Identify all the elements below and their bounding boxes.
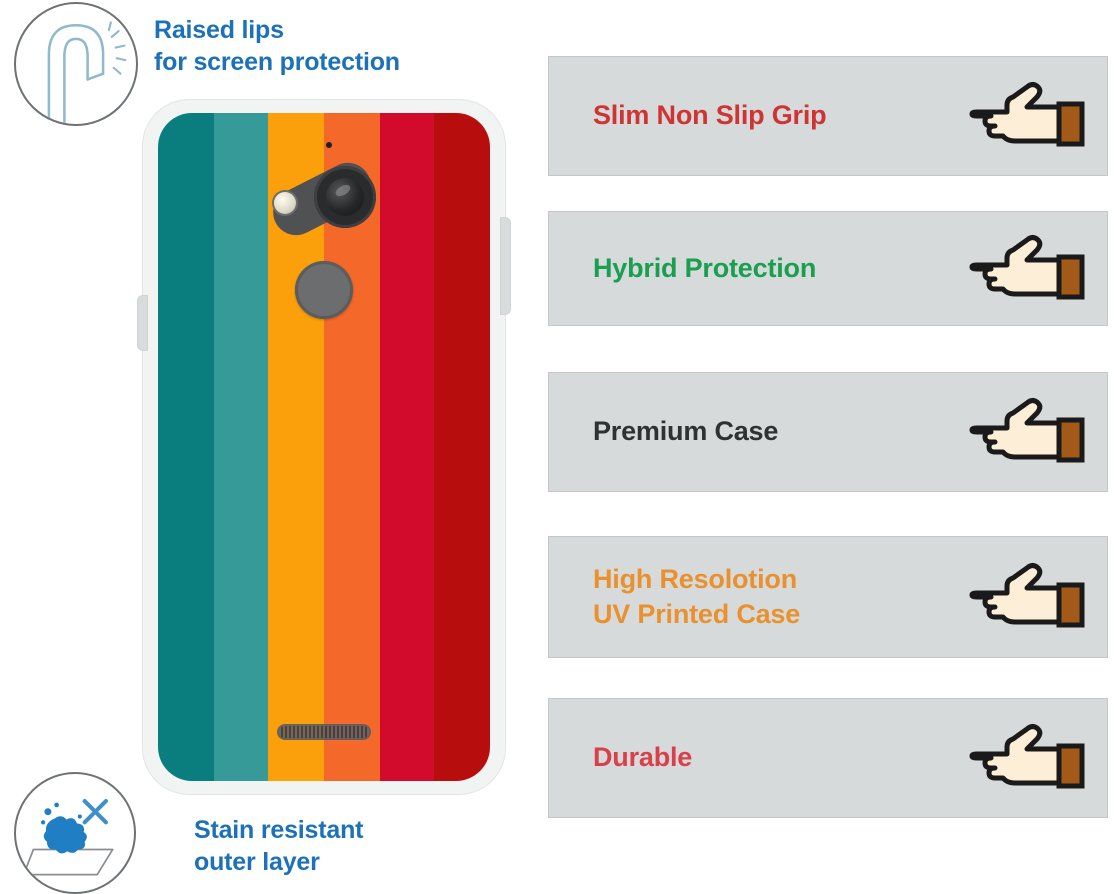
pointing-hand-icon bbox=[969, 232, 1089, 306]
pointing-hand-icon bbox=[969, 560, 1089, 634]
stain-splash-crossed-out-icon bbox=[16, 774, 134, 892]
camera-lens-glass bbox=[326, 178, 364, 216]
pointing-hand-icon bbox=[969, 79, 1089, 153]
stain-resistant-feature: Stain resistant outer layer bbox=[8, 772, 528, 887]
volume-button bbox=[138, 296, 147, 350]
stripe-dark-teal bbox=[158, 113, 214, 781]
cross-mark bbox=[85, 801, 106, 822]
rainbow-striped-phone-case bbox=[143, 100, 505, 794]
raised-lips-line-1: Raised lips bbox=[154, 14, 524, 46]
stain-resistant-line-1: Stain resistant bbox=[194, 814, 524, 846]
feature-label: Durable bbox=[593, 740, 692, 775]
feature-label: Hybrid Protection bbox=[593, 251, 816, 286]
stripe-light-teal bbox=[214, 113, 267, 781]
lens-glint bbox=[334, 183, 352, 199]
camera-lens bbox=[314, 166, 376, 228]
microphone-hole bbox=[326, 142, 332, 148]
power-button bbox=[501, 218, 510, 314]
pointing-hand-icon bbox=[969, 395, 1089, 469]
stain-resistant-caption: Stain resistant outer layer bbox=[194, 814, 524, 878]
feature-bar-slim-non-slip-grip[interactable]: Slim Non Slip Grip bbox=[548, 56, 1108, 176]
case-back-panel bbox=[158, 113, 490, 781]
feature-list: Slim Non Slip Grip Hybrid Protection Pre… bbox=[548, 56, 1114, 856]
feature-bar-hybrid-protection[interactable]: Hybrid Protection bbox=[548, 211, 1108, 326]
feature-bar-premium-case[interactable]: Premium Case bbox=[548, 372, 1108, 492]
pointing-hand-icon bbox=[969, 721, 1089, 795]
feature-label: High Resolotion UV Printed Case bbox=[593, 562, 800, 632]
speaker-grille bbox=[277, 724, 371, 740]
stain-resistant-badge-circle bbox=[14, 772, 136, 894]
stripe-crimson bbox=[380, 113, 433, 781]
raised-lips-badge-circle bbox=[14, 2, 138, 126]
feature-bar-durable[interactable]: Durable bbox=[548, 698, 1108, 818]
raised-lip-profile-icon bbox=[16, 4, 136, 124]
feature-label: Slim Non Slip Grip bbox=[593, 98, 826, 133]
feature-bar-high-resolotion-uv-printed-case[interactable]: High Resolotion UV Printed Case bbox=[548, 536, 1108, 658]
stain-resistant-line-2: outer layer bbox=[194, 846, 524, 878]
feature-label: Premium Case bbox=[593, 414, 778, 449]
stripe-dark-red bbox=[434, 113, 490, 781]
fingerprint-sensor bbox=[295, 261, 353, 319]
raised-lips-caption: Raised lips for screen protection bbox=[154, 14, 524, 78]
camera-module bbox=[270, 168, 374, 228]
camera-flash bbox=[274, 192, 296, 214]
raised-lips-line-2: for screen protection bbox=[154, 46, 524, 78]
